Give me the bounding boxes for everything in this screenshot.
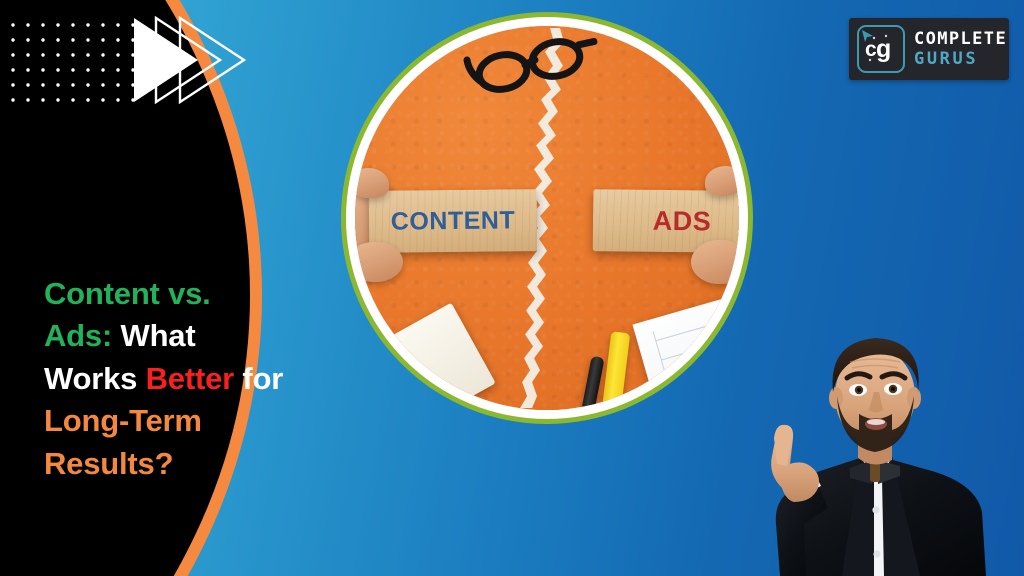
shirt-button bbox=[872, 506, 879, 513]
content-vs-ads-photo: CONTENT ADS bbox=[355, 26, 739, 410]
headline-part-white-2: for bbox=[234, 361, 283, 396]
logo-wordmark: COMPLETE GURUS bbox=[914, 31, 1007, 68]
cg-monogram-icon: c g bbox=[857, 25, 905, 73]
ear-right bbox=[907, 387, 921, 409]
triangle-filled-icon bbox=[134, 18, 198, 102]
brand-logo[interactable]: c g COMPLETE GURUS bbox=[849, 18, 1009, 80]
presenter-photo bbox=[724, 288, 1024, 576]
image-white-ring: CONTENT ADS bbox=[346, 17, 748, 419]
dot-grid-decoration bbox=[10, 22, 142, 108]
headline-part-red: Better bbox=[146, 361, 234, 396]
eyeglasses bbox=[463, 32, 603, 98]
logo-line-gurus: GURUS bbox=[914, 51, 1007, 68]
thumbnail-canvas: Content vs. Ads: What Works Better for L… bbox=[0, 0, 1024, 576]
shirt-button bbox=[873, 550, 880, 557]
ear-left bbox=[829, 387, 843, 409]
svg-text:g: g bbox=[876, 35, 891, 63]
block-content-label: CONTENT bbox=[369, 189, 538, 253]
right-thumb bbox=[705, 166, 739, 196]
right-fingers bbox=[691, 240, 739, 284]
headline: Content vs. Ads: What Works Better for L… bbox=[44, 273, 284, 485]
logo-line-complete: COMPLETE bbox=[914, 31, 1007, 48]
wooden-block-content: CONTENT bbox=[369, 189, 538, 253]
headline-part-orange: Long-Term Results? bbox=[44, 403, 202, 480]
play-arrows-decoration bbox=[130, 12, 250, 108]
featured-image-circle: CONTENT ADS bbox=[341, 12, 753, 424]
